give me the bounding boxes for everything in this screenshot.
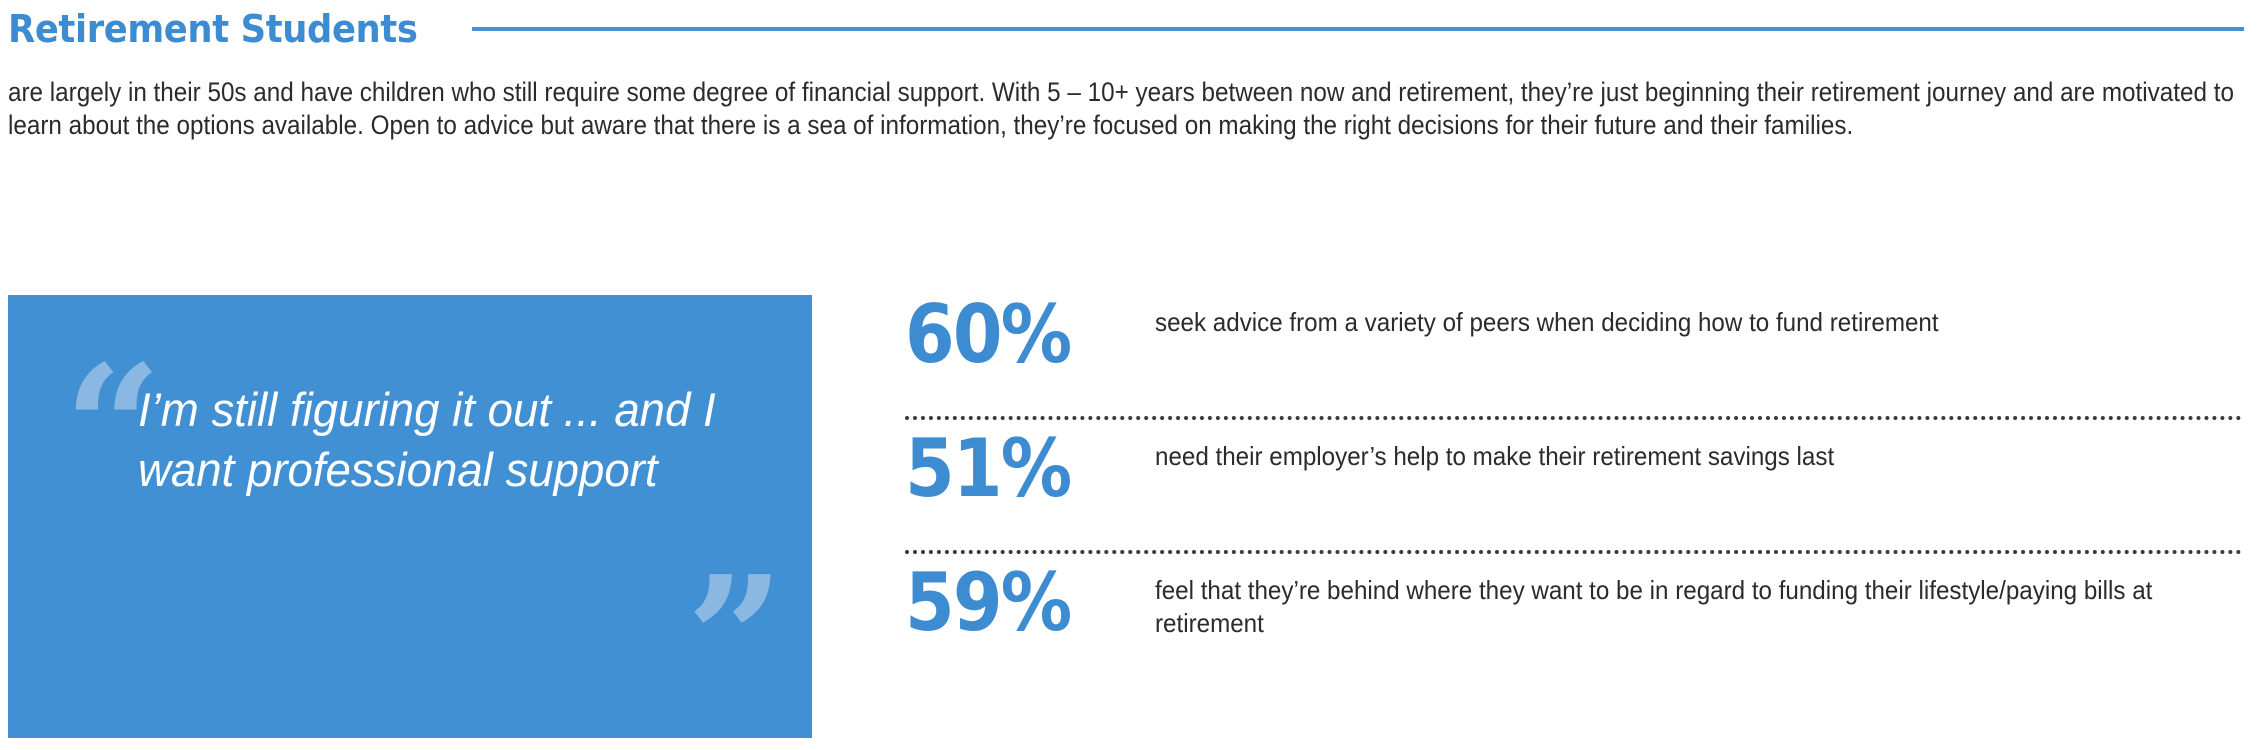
intro-paragraph: are largely in their 50s and have childr…: [8, 76, 2252, 142]
page-header: Retirement Students: [8, 0, 2244, 56]
header-rule: [472, 27, 2244, 31]
stat-percent: 59%: [905, 556, 1140, 649]
stats-list: 60% seek advice from a variety of peers …: [905, 292, 2245, 680]
stat-description: need their employer’s help to make their…: [1155, 426, 2169, 473]
quote-panel: “ I’m still figuring it out ... and I wa…: [8, 295, 812, 738]
stat-divider: [905, 550, 2242, 554]
stat-row: 60% seek advice from a variety of peers …: [905, 292, 2245, 412]
stat-row: 51% need their employer’s help to make t…: [905, 426, 2245, 546]
stat-percent: 51%: [905, 422, 1140, 515]
stat-description: seek advice from a variety of peers when…: [1155, 292, 2169, 339]
stat-row: 59% feel that they’re behind where they …: [905, 560, 2245, 680]
page-title: Retirement Students: [8, 8, 418, 48]
quote-text: I’m still figuring it out ... and I want…: [138, 380, 749, 500]
stat-description: feel that they’re behind where they want…: [1155, 560, 2169, 640]
stat-divider: [905, 416, 2242, 420]
stat-percent: 60%: [905, 288, 1140, 381]
quote-close-icon: ”: [686, 554, 784, 724]
